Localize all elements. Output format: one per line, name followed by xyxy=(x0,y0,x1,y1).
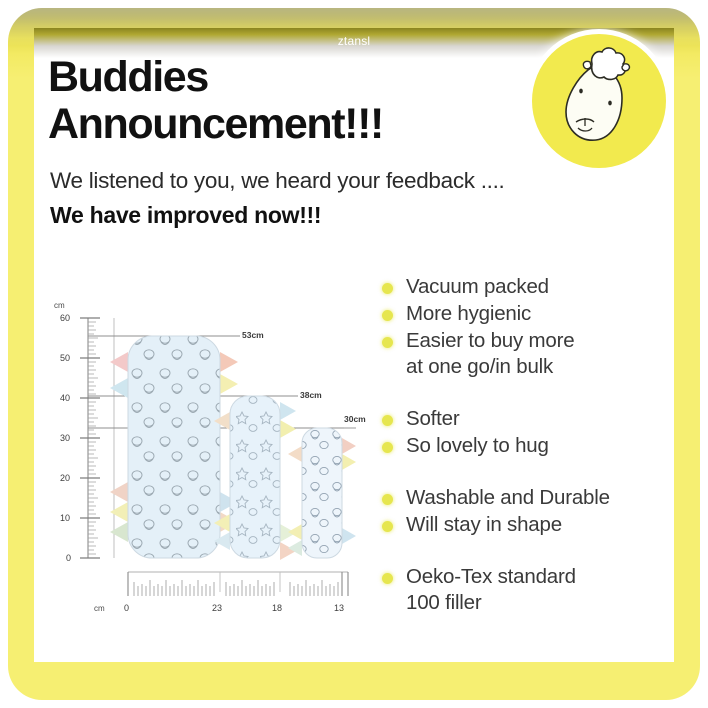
sheep-logo xyxy=(532,34,666,168)
bullet-dot-icon xyxy=(382,337,393,348)
list-item: Vacuum packed xyxy=(382,274,672,300)
svg-text:40: 40 xyxy=(60,393,70,403)
bullet-text: Vacuum packed xyxy=(406,275,549,298)
list-item: Washable and Durable xyxy=(382,485,672,511)
sheep-logo-icon xyxy=(532,34,666,168)
bullet-dot-icon xyxy=(382,494,393,505)
vertical-axis-unit: cm xyxy=(54,301,65,310)
svg-text:20: 20 xyxy=(60,473,70,483)
size-label-small: 30cm xyxy=(344,414,366,424)
horizontal-ruler: cm 0 23 18 13 xyxy=(94,572,348,613)
bullet-text: Will stay in shape xyxy=(406,513,562,536)
bullet-text: Washable and Durable xyxy=(406,486,610,509)
bullet-dot-icon xyxy=(382,442,393,453)
vertical-axis-ticks: 60 50 40 30 20 10 0 xyxy=(60,313,100,563)
feature-bullet-list: Vacuum packed More hygienic Easier to bu… xyxy=(382,274,672,642)
list-item: So lovely to hug xyxy=(382,433,672,459)
bullet-group: Washable and Durable Will stay in shape xyxy=(382,485,672,538)
bullet-text-continuation: 100 filler xyxy=(406,590,576,616)
pillow-small xyxy=(288,428,356,558)
width-tick-2: 18 xyxy=(272,603,282,613)
bullet-dot-icon xyxy=(382,573,393,584)
poster-card: ztansl Buddies Announcement!!! We listen… xyxy=(34,28,674,662)
bullet-text: Oeko-Tex standard xyxy=(406,565,576,588)
svg-text:30: 30 xyxy=(60,433,70,443)
bullet-group: Oeko-Tex standard 100 filler xyxy=(382,564,672,616)
title-line-2: Announcement!!! xyxy=(48,101,528,148)
list-item: More hygienic xyxy=(382,301,672,327)
horizontal-axis-unit: cm xyxy=(94,604,105,613)
width-tick-3: 13 xyxy=(334,603,344,613)
poster: ztansl Buddies Announcement!!! We listen… xyxy=(0,0,708,708)
bullet-dot-icon xyxy=(382,415,393,426)
list-item: Softer xyxy=(382,406,672,432)
bullet-text: More hygienic xyxy=(406,302,531,325)
bullet-dot-icon xyxy=(382,310,393,321)
svg-text:60: 60 xyxy=(60,313,70,323)
list-item: Will stay in shape xyxy=(382,512,672,538)
bullet-text-continuation: at one go/in bulk xyxy=(406,354,574,380)
bullet-dot-icon xyxy=(382,283,393,294)
size-comparison-chart: cm 60 50 40 30 20 10 xyxy=(44,296,374,626)
width-tick-1: 23 xyxy=(212,603,222,613)
subheading-line-2: We have improved now!!! xyxy=(50,202,321,229)
svg-text:0: 0 xyxy=(66,553,71,563)
svg-text:50: 50 xyxy=(60,353,70,363)
page-title: Buddies Announcement!!! xyxy=(48,54,528,148)
pillow-medium xyxy=(214,396,296,560)
bullet-text: Easier to buy more xyxy=(406,329,574,352)
bullet-text: So lovely to hug xyxy=(406,434,549,457)
bullet-text: Softer xyxy=(406,407,460,430)
bullet-dot-icon xyxy=(382,521,393,532)
subheading-line-1: We listened to you, we heard your feedba… xyxy=(50,168,505,194)
list-item: Oeko-Tex standard 100 filler xyxy=(382,564,672,616)
size-label-medium: 38cm xyxy=(300,390,322,400)
svg-text:10: 10 xyxy=(60,513,70,523)
title-line-1: Buddies xyxy=(48,54,528,101)
bullet-group: Softer So lovely to hug xyxy=(382,406,672,459)
list-item: Easier to buy more at one go/in bulk xyxy=(382,328,672,380)
size-label-large: 53cm xyxy=(242,330,264,340)
bullet-group: Vacuum packed More hygienic Easier to bu… xyxy=(382,274,672,380)
width-tick-0: 0 xyxy=(124,603,129,613)
